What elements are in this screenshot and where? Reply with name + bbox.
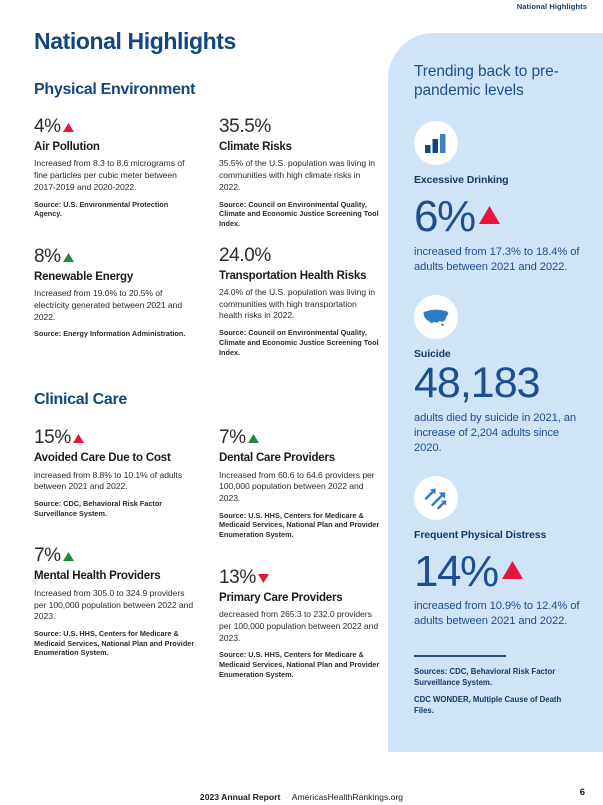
section-title-physical-environment: Physical Environment — [34, 81, 382, 99]
stat-value: 24.0% — [219, 246, 271, 267]
stat-desc: 35.5% of the U.S. population was living … — [219, 158, 382, 193]
stat-value: 7% — [34, 546, 61, 567]
panel-stat-desc: increased from 10.9% to 12.4% of adults … — [414, 599, 581, 629]
stat-source: Source: U.S. HHS, Centers for Medicare &… — [219, 511, 382, 540]
column-right: 35.5% Climate Risks 35.5% of the U.S. po… — [219, 117, 382, 361]
stat-value: 8% — [34, 247, 61, 268]
stat-value-row: 7% — [34, 546, 197, 567]
stat-desc: increased from 8.8% to 10.1% of adults b… — [34, 470, 197, 493]
panel-item-excessive-drinking: Excessive Drinking 6% increased from 17.… — [414, 121, 581, 275]
panel-stat-label: Suicide — [414, 348, 581, 360]
panel-stat-value-row: 48,183 — [414, 362, 581, 406]
stat-desc: Increased from 305.0 to 324.9 providers … — [34, 588, 197, 623]
section-grid-physical-environment: 4% Air Pollution Increased from 8.3 to 8… — [34, 117, 382, 361]
page-number: 6 — [580, 787, 585, 798]
us-map-icon — [414, 295, 458, 339]
stat-source: Source: Council on Environmental Quality… — [219, 200, 382, 229]
trend-up-icon — [479, 188, 500, 233]
stat-dental-care-providers: 7% Dental Care Providers Increased from … — [219, 428, 382, 540]
stat-transportation-health-risks: 24.0% Transportation Health Risks 24.0% … — [219, 246, 382, 358]
section-title-clinical-care: Clinical Care — [34, 391, 382, 409]
panel-stat-label: Frequent Physical Distress — [414, 529, 581, 541]
stat-desc: decreased from 265.3 to 232.0 providers … — [219, 609, 382, 644]
trending-panel: Trending back to pre-pandemic levels Exc… — [388, 33, 603, 752]
stat-source: Source: CDC, Behavioral Risk Factor Surv… — [34, 499, 197, 518]
panel-item-suicide: Suicide 48,183 adults died by suicide in… — [414, 295, 581, 456]
trend-up-icon — [73, 428, 84, 449]
stat-value: 35.5% — [219, 117, 271, 138]
stat-desc: 24.0% of the U.S. population was living … — [219, 287, 382, 322]
column-left: 15% Avoided Care Due to Cost increased f… — [34, 428, 197, 683]
panel-title: Trending back to pre-pandemic levels — [414, 63, 581, 101]
stat-name: Transportation Health Risks — [219, 270, 382, 284]
panel-stat-value-row: 14% — [414, 543, 581, 595]
column-right: 7% Dental Care Providers Increased from … — [219, 428, 382, 683]
stat-value-row: 13% — [219, 568, 382, 589]
section-grid-clinical-care: 15% Avoided Care Due to Cost increased f… — [34, 428, 382, 683]
trend-up-icon — [63, 117, 74, 138]
trend-up-icon — [63, 546, 74, 567]
stat-source: Source: Energy Information Administratio… — [34, 329, 197, 339]
panel-stat-desc: increased from 17.3% to 18.4% of adults … — [414, 245, 581, 275]
stat-value-row: 7% — [219, 428, 382, 449]
stat-name: Avoided Care Due to Cost — [34, 452, 197, 466]
panel-source-1: Sources: CDC, Behavioral Risk Factor Sur… — [414, 667, 581, 688]
panel-stat-value: 48,183 — [414, 362, 540, 406]
stat-name: Mental Health Providers — [34, 570, 197, 584]
panel-stat-value: 6% — [414, 195, 475, 240]
panel-stat-value: 14% — [414, 550, 498, 595]
stat-avoided-care-due-to-cost: 15% Avoided Care Due to Cost increased f… — [34, 428, 197, 518]
stat-desc: Increased from 8.3 to 8.6 micrograms of … — [34, 158, 197, 193]
stat-name: Dental Care Providers — [219, 452, 382, 466]
stat-value: 7% — [219, 428, 246, 449]
stat-value-row: 35.5% — [219, 117, 382, 138]
arrows-trend-icon — [414, 476, 458, 520]
column-left: 4% Air Pollution Increased from 8.3 to 8… — [34, 117, 197, 361]
bar-chart-icon — [414, 121, 458, 165]
stat-value-row: 24.0% — [219, 246, 382, 267]
stat-name: Renewable Energy — [34, 271, 197, 285]
stat-mental-health-providers: 7% Mental Health Providers Increased fro… — [34, 546, 197, 658]
panel-divider — [414, 655, 506, 657]
panel-item-frequent-physical-distress: Frequent Physical Distress 14% increased… — [414, 476, 581, 630]
footer-report-label: 2023 Annual Report — [200, 792, 280, 802]
stat-desc: Increased from 60.6 to 64.6 providers pe… — [219, 470, 382, 505]
stat-primary-care-providers: 13% Primary Care Providers decreased fro… — [219, 568, 382, 680]
panel-source-2: CDC WONDER, Multiple Cause of Death File… — [414, 695, 581, 716]
panel-stat-label: Excessive Drinking — [414, 174, 581, 186]
main-content: National Highlights Physical Environment… — [34, 28, 382, 684]
panel-stat-desc: adults died by suicide in 2021, an incre… — [414, 411, 581, 456]
stat-value-row: 8% — [34, 247, 197, 268]
panel-stat-value-row: 6% — [414, 188, 581, 240]
stat-value-row: 4% — [34, 117, 197, 138]
trend-up-icon — [502, 543, 523, 588]
stat-value: 4% — [34, 117, 61, 138]
stat-value: 13% — [219, 568, 256, 589]
stat-name: Air Pollution — [34, 141, 197, 155]
trend-up-icon — [63, 247, 74, 268]
stat-source: Source: Council on Environmental Quality… — [219, 328, 382, 357]
trend-down-icon — [258, 568, 269, 589]
stat-source: Source: U.S. HHS, Centers for Medicare &… — [34, 629, 197, 658]
trend-up-icon — [248, 428, 259, 449]
stat-source: Source: U.S. Environmental Protection Ag… — [34, 200, 197, 219]
stat-source: Source: U.S. HHS, Centers for Medicare &… — [219, 650, 382, 679]
stat-renewable-energy: 8% Renewable Energy Increased from 19.0%… — [34, 247, 197, 339]
running-header: National Highlights — [517, 2, 587, 11]
stat-name: Climate Risks — [219, 141, 382, 155]
stat-name: Primary Care Providers — [219, 592, 382, 606]
page-title: National Highlights — [34, 28, 382, 55]
report-page: National Highlights Trending back to pre… — [0, 0, 603, 799]
stat-air-pollution: 4% Air Pollution Increased from 8.3 to 8… — [34, 117, 197, 219]
stat-value-row: 15% — [34, 428, 197, 449]
stat-value: 15% — [34, 428, 71, 449]
stat-climate-risks: 35.5% Climate Risks 35.5% of the U.S. po… — [219, 117, 382, 229]
footer-center: 2023 Annual Report AmericasHealthRanking… — [0, 787, 603, 805]
stat-desc: Increased from 19.0% to 20.5% of electri… — [34, 288, 197, 323]
footer-url[interactable]: AmericasHealthRankings.org — [292, 792, 403, 802]
